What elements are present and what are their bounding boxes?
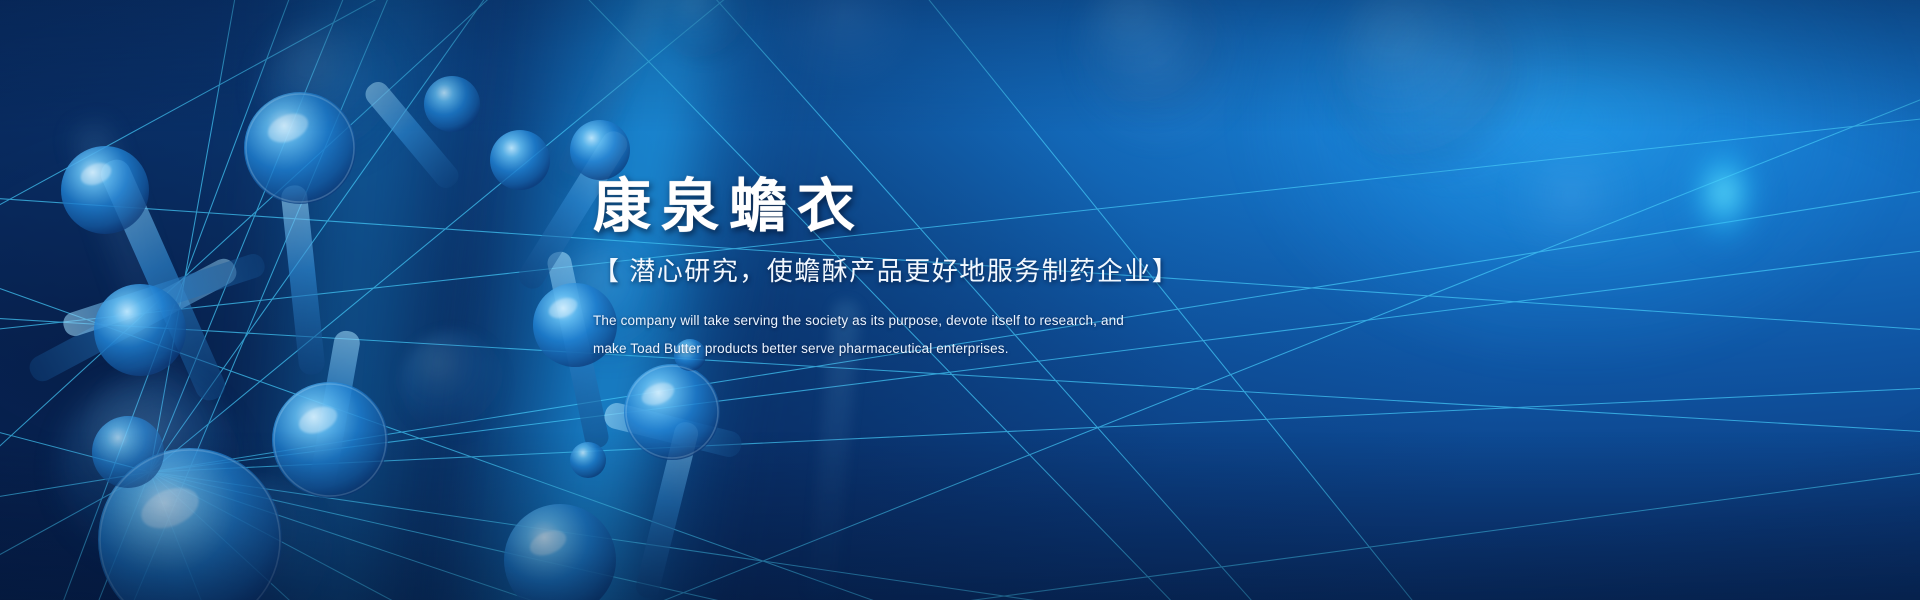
- hero-banner: 康泉蟾衣 【 潜心研究，使蟾酥产品更好地服务制药企业】 The company …: [0, 0, 1920, 600]
- banner-title: 康泉蟾衣: [593, 176, 1353, 237]
- banner-subtitle: 【 潜心研究，使蟾酥产品更好地服务制药企业】: [593, 255, 1353, 288]
- banner-copy: 康泉蟾衣 【 潜心研究，使蟾酥产品更好地服务制药企业】 The company …: [593, 176, 1353, 358]
- banner-description: The company will take serving the societ…: [593, 312, 1353, 358]
- banner-description-line-1: The company will take serving the societ…: [593, 312, 1353, 330]
- banner-description-line-2: make Toad Butter products better serve p…: [593, 340, 1353, 358]
